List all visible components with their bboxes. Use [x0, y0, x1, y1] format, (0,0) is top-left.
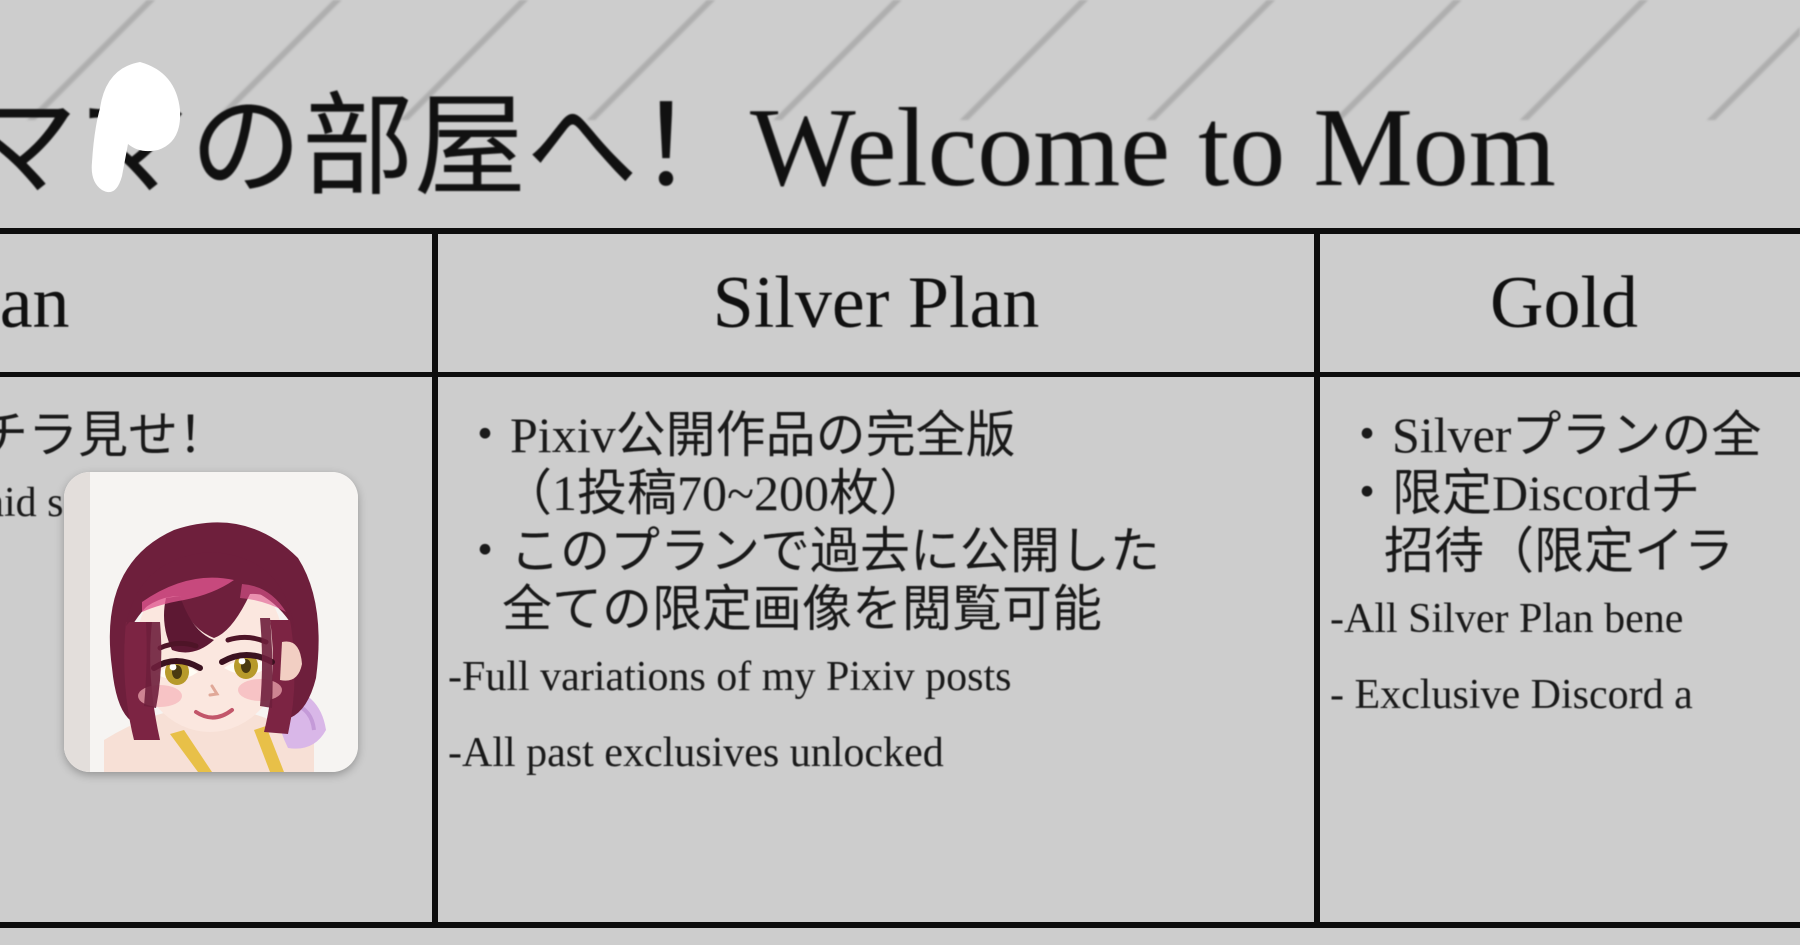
plan-feature-jp: ・Pixiv公開作品の完全版 — [438, 406, 1314, 464]
anime-girl-avatar-icon — [64, 472, 358, 772]
plan-feature-jp: ・Silverプランの全 — [1320, 406, 1800, 464]
column-body-gold: ・Silverプランの全 ・限定Discordチ 招待（限定イラ -All Si… — [1320, 378, 1800, 945]
plan-feature-jp: ・このプランで過去に公開した — [438, 522, 1314, 580]
column-header-gold: Gold — [1320, 234, 1800, 372]
header-bottom-rule — [0, 372, 1800, 377]
banner-headline: ママの部屋へ！Welcome to Mom — [0, 78, 1800, 218]
plan-feature-en: - Exclusive Discord a — [1320, 670, 1800, 720]
plan-feature-jp: （1投稿70~200枚） — [438, 464, 1314, 522]
avatar[interactable] — [64, 472, 358, 772]
plan-feature-en: -All past exclusives unlocked — [438, 728, 1314, 778]
column-header-bronze: Plan — [0, 234, 432, 372]
plan-feature-jp: ・限定Discordチ — [1320, 464, 1800, 522]
plan-feature-jp: ンをチラ見せ！ — [0, 406, 432, 464]
plan-feature-en: -Full variations of my Pixiv posts — [438, 652, 1314, 702]
plan-feature-jp: 招待（限定イラ — [1320, 522, 1800, 580]
plan-feature-jp: 全ての限定画像を閲覧可能 — [438, 580, 1314, 638]
column-header-silver: Silver Plan — [438, 234, 1314, 372]
plan-feature-en: -All Silver Plan bene — [1320, 594, 1800, 644]
plan-banner-screenshot: ママの部屋へ！Welcome to Mom Plan ンをチラ見せ！ rs of… — [0, 0, 1800, 945]
column-body-silver: ・Pixiv公開作品の完全版 （1投稿70~200枚） ・このプランで過去に公開… — [438, 378, 1314, 945]
